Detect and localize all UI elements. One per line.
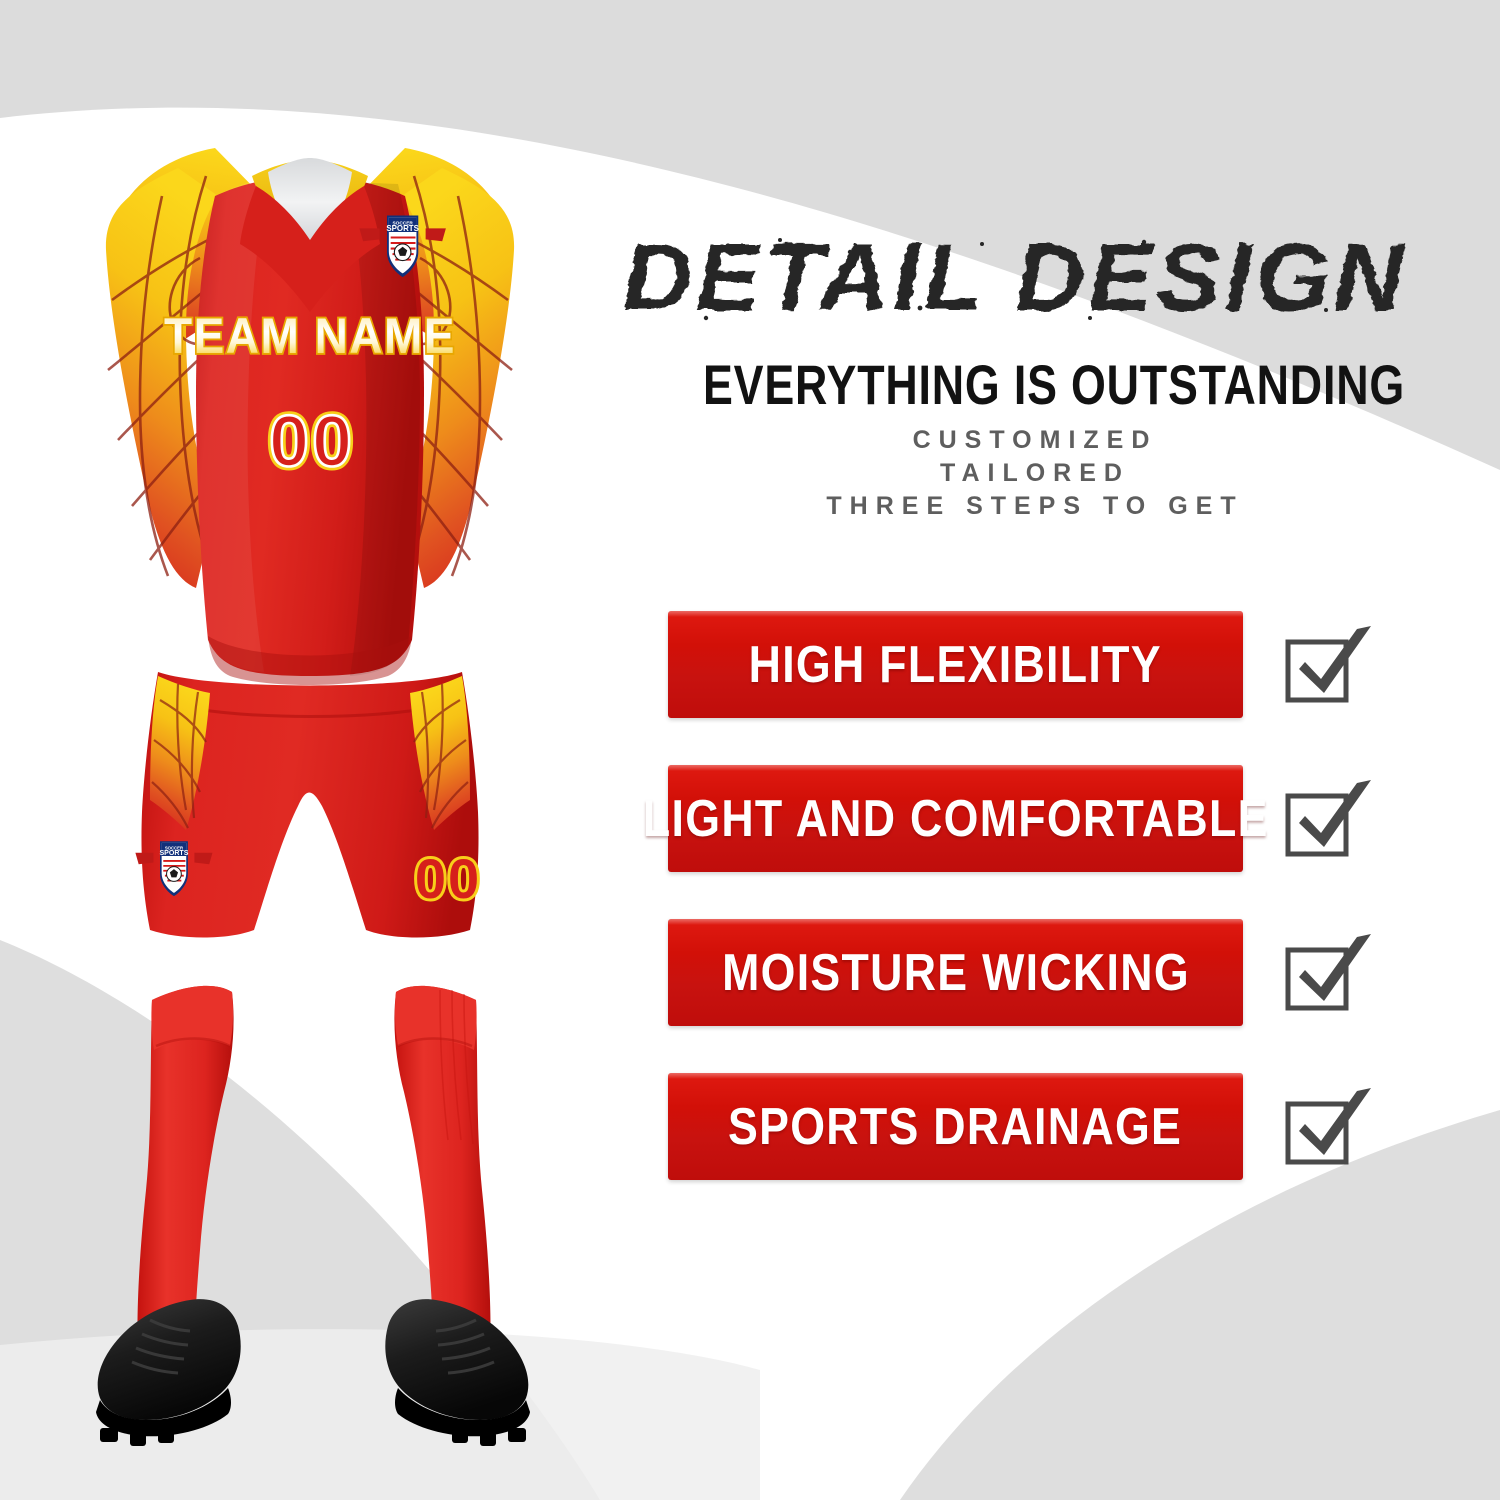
check-svg [1279,1079,1375,1175]
feature-list: HIGH FLEXIBILITY LIGHT AND COMFORTABLE [668,611,1458,1227]
svg-text:00: 00 [269,402,355,482]
checkbox-checked-icon[interactable] [1279,771,1375,867]
feature-bar-high-flexibility[interactable]: HIGH FLEXIBILITY [668,611,1243,718]
checkbox-checked-icon[interactable] [1279,1079,1375,1175]
page-subtitle: EVERYTHING IS OUTSTANDING [703,352,1367,417]
jersey-number: 00 00 [269,402,355,482]
tagline-block: CUSTOMIZED TAILORED THREE STEPS TO GET [620,424,1450,523]
tagline-line-2: TAILORED [620,457,1450,490]
feature-label: LIGHT AND COMFORTABLE [643,789,1269,849]
page-title: DETAIL DESIGN [620,222,1410,340]
feature-label: MOISTURE WICKING [722,943,1190,1003]
tagline-line-1: CUSTOMIZED [620,424,1450,457]
check-svg [1279,617,1375,713]
feature-bar-light-and-comfortable[interactable]: LIGHT AND COMFORTABLE [668,765,1243,872]
feature-bar-sports-drainage[interactable]: SPORTS DRAINAGE [668,1073,1243,1180]
detail-design-brush-title: DETAIL DESIGN [620,222,1410,340]
tagline-line-3: THREE STEPS TO GET [620,490,1450,523]
product-showcase: SOCCER SPORTS TEAM NAME 00 00 [0,0,620,1500]
jersey-team-name: TEAM NAME [164,310,456,365]
feature-row: LIGHT AND COMFORTABLE [668,765,1458,872]
checkbox-checked-icon[interactable] [1279,617,1375,713]
check-svg [1279,925,1375,1021]
feature-row: SPORTS DRAINAGE [668,1073,1458,1180]
feature-row: HIGH FLEXIBILITY [668,611,1458,718]
feature-row: MOISTURE WICKING [668,919,1458,1026]
feature-label: HIGH FLEXIBILITY [749,635,1162,695]
svg-text:TEAM NAME: TEAM NAME [164,310,456,365]
soccer-kit-illustration: SOCCER SPORTS TEAM NAME 00 00 [0,0,620,1500]
svg-text:SPORTS: SPORTS [159,850,188,857]
feature-label: SPORTS DRAINAGE [728,1097,1182,1157]
jersey: SOCCER SPORTS TEAM NAME 00 00 [106,148,514,685]
svg-text:SPORTS: SPORTS [386,224,419,233]
check-svg [1279,771,1375,867]
shorts: SOCCER SPORTS 00 [135,672,481,938]
feature-bar-moisture-wicking[interactable]: MOISTURE WICKING [668,919,1243,1026]
shorts-number: 00 [415,847,481,910]
checkbox-checked-icon[interactable] [1279,925,1375,1021]
cleats [96,1299,530,1446]
svg-text:DETAIL DESIGN: DETAIL DESIGN [623,224,1408,331]
